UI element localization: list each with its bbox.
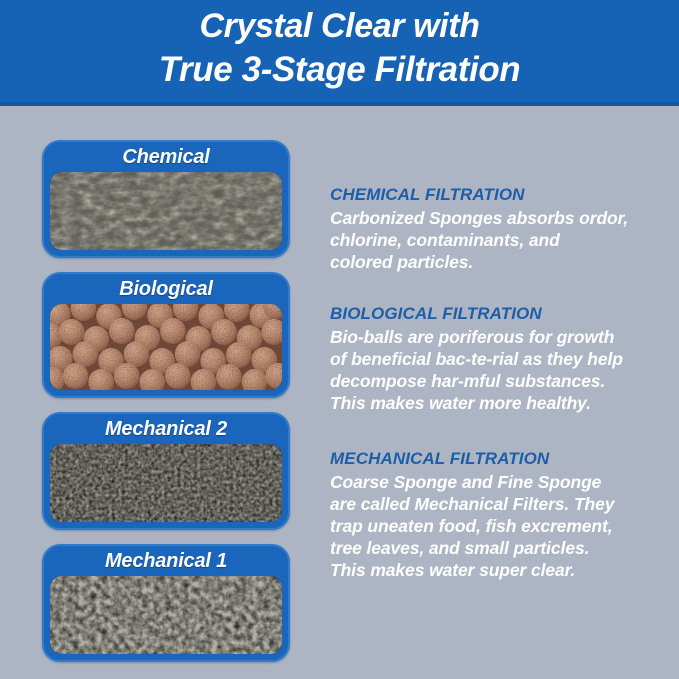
title-line-2: True 3-Stage Filtration: [0, 48, 679, 92]
detail-line: colored particles.: [330, 251, 662, 273]
detail-body: Carbonized Sponges absorbs ordor, chlori…: [330, 207, 662, 273]
media-card-mechanical-2: Mechanical 2: [42, 412, 290, 530]
media-card-label: Biological: [44, 274, 288, 304]
detail-heading: MECHANICAL FILTRATION: [330, 448, 662, 470]
detail-chemical: CHEMICAL FILTRATION Carbonized Sponges a…: [330, 184, 662, 273]
detail-line: tree leaves, and small particles.: [330, 537, 662, 559]
detail-line: Coarse Sponge and Fine Sponge: [330, 471, 662, 493]
filtration-details: CHEMICAL FILTRATION Carbonized Sponges a…: [330, 184, 662, 607]
mechanical-2-media-photo: [50, 444, 282, 522]
media-card-label: Mechanical 2: [44, 414, 288, 444]
page-title: Crystal Clear with True 3-Stage Filtrati…: [0, 4, 679, 92]
detail-biological: BIOLOGICAL FILTRATION Bio-balls are pori…: [330, 303, 662, 414]
media-card-biological: Biological: [42, 272, 290, 398]
media-card-label: Chemical: [44, 142, 288, 172]
mechanical-1-media-photo: [50, 576, 282, 654]
biological-media-photo: [50, 304, 282, 390]
media-card-chemical: Chemical: [42, 140, 290, 258]
detail-body: Coarse Sponge and Fine Sponge are called…: [330, 471, 662, 581]
detail-heading: CHEMICAL FILTRATION: [330, 184, 662, 206]
detail-line: This makes water super clear.: [330, 559, 662, 581]
title-line-1: Crystal Clear with: [0, 4, 679, 48]
detail-line: of beneficial bac-te-rial as they help: [330, 348, 662, 370]
chemical-media-photo: [50, 172, 282, 250]
detail-line: chlorine, contaminants, and: [330, 229, 662, 251]
infographic-page: Crystal Clear with True 3-Stage Filtrati…: [0, 0, 679, 679]
detail-line: are called Mechanical Filters. They: [330, 493, 662, 515]
detail-heading: BIOLOGICAL FILTRATION: [330, 303, 662, 325]
media-card-label: Mechanical 1: [44, 546, 288, 576]
header-banner: Crystal Clear with True 3-Stage Filtrati…: [0, 0, 679, 106]
detail-line: trap uneaten food, fish excrement,: [330, 515, 662, 537]
media-card-list: Chemical: [42, 140, 290, 676]
detail-line: This makes water more healthy.: [330, 392, 662, 414]
detail-line: Bio-balls are poriferous for growth: [330, 326, 662, 348]
detail-body: Bio-balls are poriferous for growth of b…: [330, 326, 662, 414]
detail-line: Carbonized Sponges absorbs ordor,: [330, 207, 662, 229]
media-card-mechanical-1: Mechanical 1: [42, 544, 290, 662]
detail-mechanical: MECHANICAL FILTRATION Coarse Sponge and …: [330, 448, 662, 581]
detail-line: decompose har-mful substances.: [330, 370, 662, 392]
